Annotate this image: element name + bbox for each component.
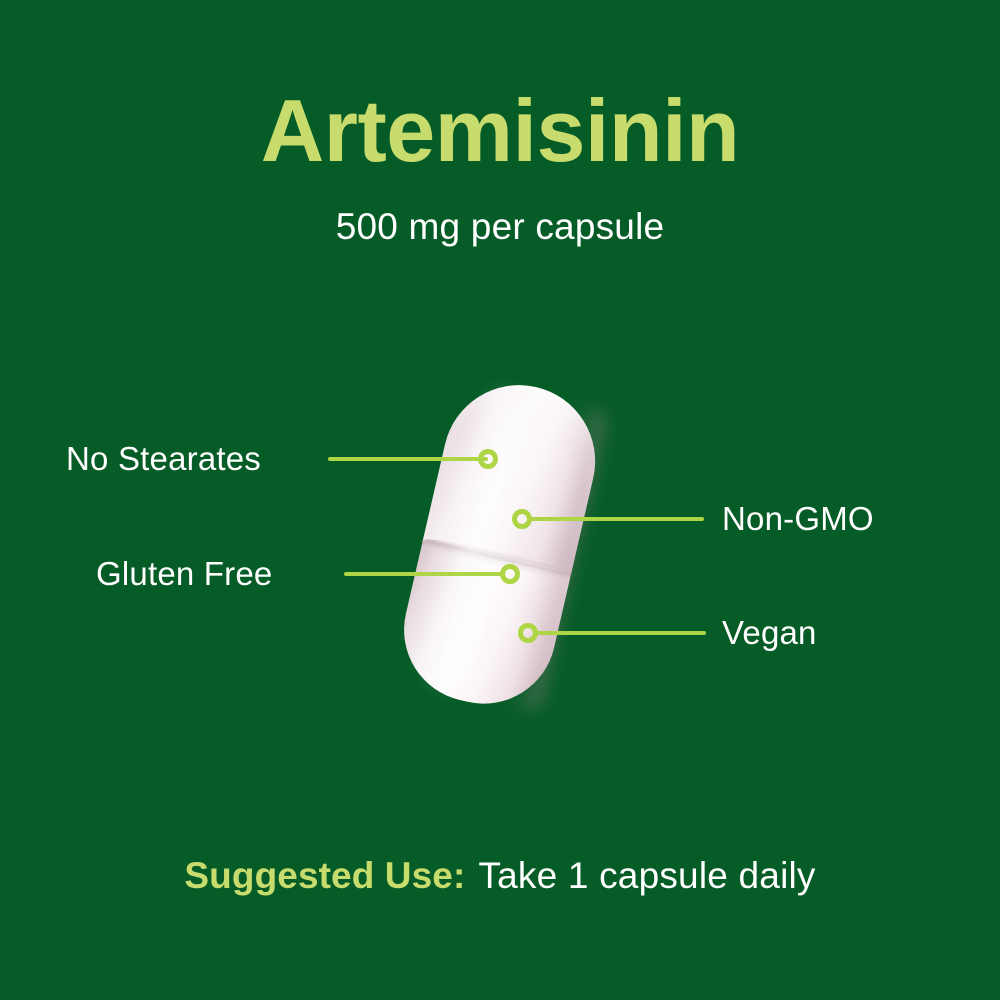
callout-label-gluten-free: Gluten Free	[96, 555, 272, 593]
suggested-use-value: Take 1 capsule daily	[478, 855, 815, 896]
capsule-shape	[390, 370, 611, 718]
callout-dot-gluten-free	[500, 564, 520, 584]
product-infographic: Artemisinin 500 mg per capsule No Steara…	[0, 0, 1000, 1000]
product-dosage-subtitle: 500 mg per capsule	[0, 206, 1000, 248]
suggested-use-label: Suggested Use:	[184, 855, 465, 896]
callout-dot-no-stearates	[478, 449, 498, 469]
callout-line-gluten-free	[344, 572, 502, 576]
callout-line-no-stearates	[328, 457, 488, 461]
capsule-image	[410, 383, 610, 708]
callout-label-no-stearates: No Stearates	[66, 440, 261, 478]
callout-line-vegan	[534, 631, 706, 635]
suggested-use: Suggested Use:Take 1 capsule daily	[0, 855, 1000, 897]
callout-line-non-gmo	[528, 517, 704, 521]
callout-label-vegan: Vegan	[722, 614, 817, 652]
page-title: Artemisinin	[0, 84, 1000, 177]
callout-label-non-gmo: Non-GMO	[722, 500, 874, 538]
